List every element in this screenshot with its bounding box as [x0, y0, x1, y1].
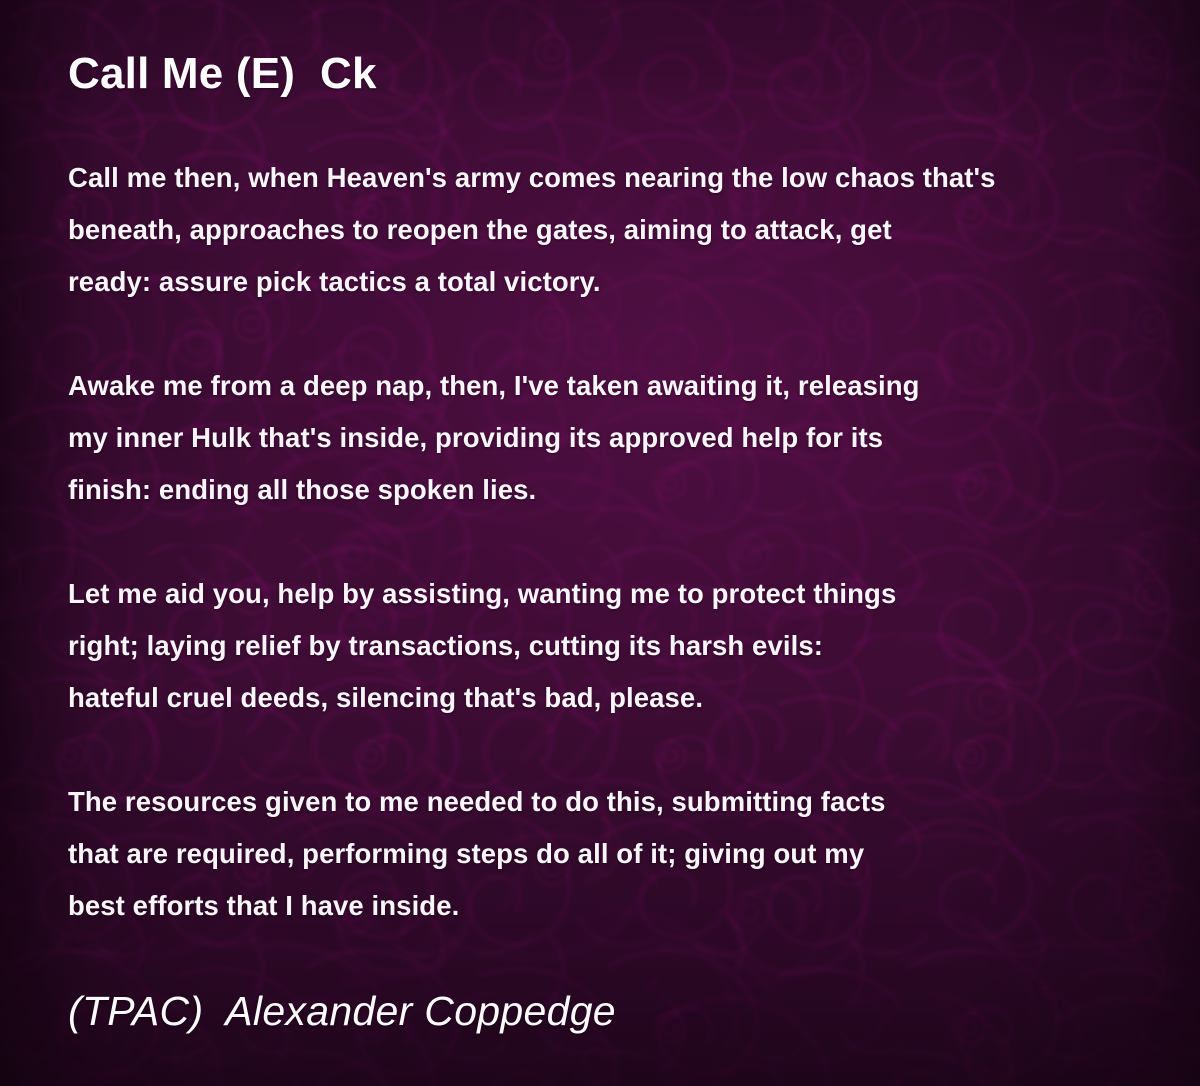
poem-line: beneath, approaches to reopen the gates,…	[68, 204, 1143, 256]
poem-line: my inner Hulk that's inside, providing i…	[68, 412, 1143, 464]
poem-line: Awake me from a deep nap, then, I've tak…	[68, 360, 1143, 412]
poem-stanza: The resources given to me needed to do t…	[68, 776, 1143, 932]
poem-card: Call Me (E) Ck Call me then, when Heaven…	[0, 0, 1200, 1086]
poem-author-signature: (TPAC) Alexander Coppedge	[68, 988, 616, 1035]
page-title: Call Me (E) Ck	[68, 52, 377, 96]
poem-line: Call me then, when Heaven's army comes n…	[68, 152, 1143, 204]
poem-line: ready: assure pick tactics a total victo…	[68, 256, 1143, 308]
poem-line: hateful cruel deeds, silencing that's ba…	[68, 672, 1143, 724]
poem-stanza: Call me then, when Heaven's army comes n…	[68, 152, 1143, 308]
poem-content: Call Me (E) Ck Call me then, when Heaven…	[68, 0, 1143, 1086]
poem-stanza: Let me aid you, help by assisting, wanti…	[68, 568, 1143, 724]
poem-line: Let me aid you, help by assisting, wanti…	[68, 568, 1143, 620]
poem-line: that are required, performing steps do a…	[68, 828, 1143, 880]
poem-line: finish: ending all those spoken lies.	[68, 464, 1143, 516]
poem-body: Call me then, when Heaven's army comes n…	[68, 152, 1143, 932]
poem-stanza: Awake me from a deep nap, then, I've tak…	[68, 360, 1143, 516]
poem-line: right; laying relief by transactions, cu…	[68, 620, 1143, 672]
poem-line: The resources given to me needed to do t…	[68, 776, 1143, 828]
poem-line: best efforts that I have inside.	[68, 880, 1143, 932]
